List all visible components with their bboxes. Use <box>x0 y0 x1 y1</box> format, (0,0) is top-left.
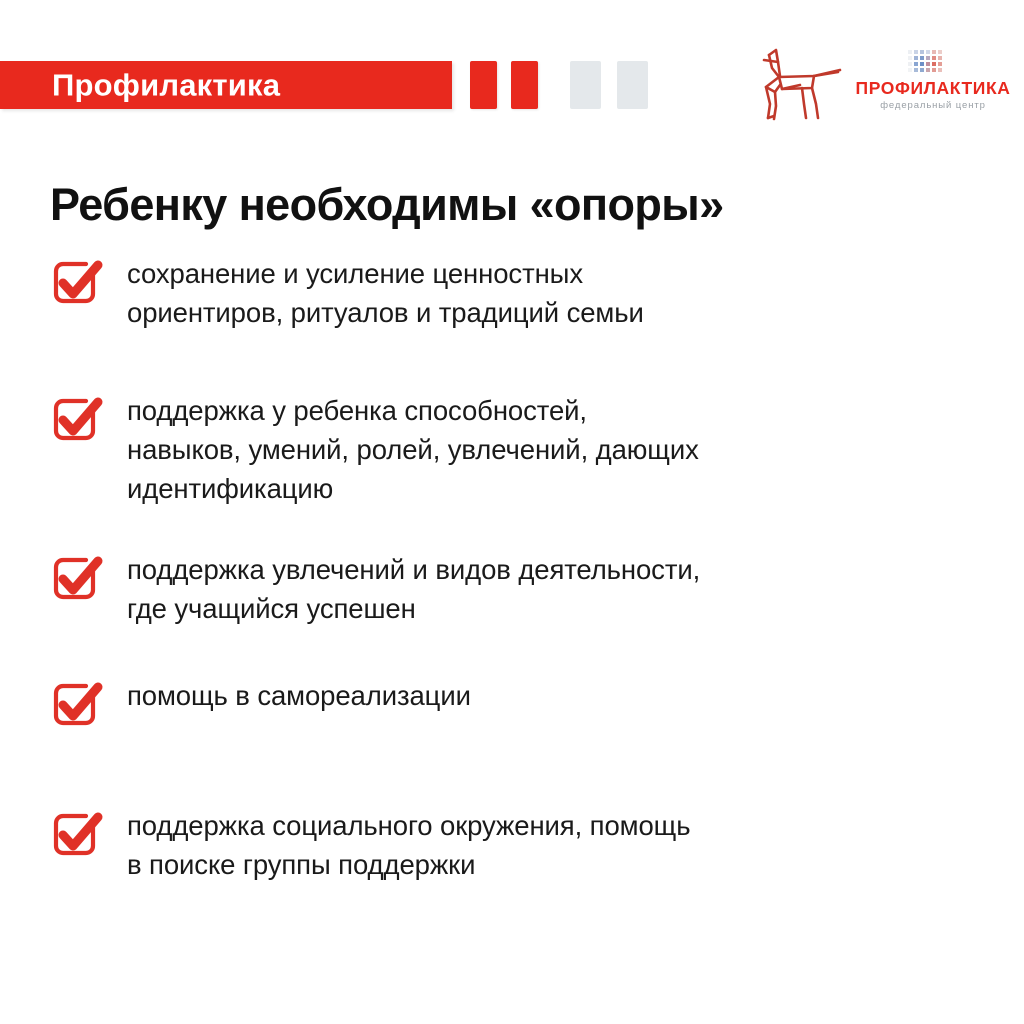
list-item-line: идентификацию <box>127 469 978 508</box>
list-item-line: поддержка социального окружения, помощь <box>127 806 978 845</box>
checkbox-checked-icon <box>48 804 106 862</box>
list-item-line: поддержка у ребенка способностей, <box>127 391 978 430</box>
list-item-line: сохранение и усиление ценностных <box>127 254 978 293</box>
checkbox-checked-icon <box>48 389 106 447</box>
checkbox-checked-icon <box>48 674 106 732</box>
header-segment-gray-1 <box>570 61 601 109</box>
list-item-line: в поиске группы поддержки <box>127 845 978 884</box>
list-item: сохранение и усиление ценностных ориенти… <box>48 248 978 332</box>
checkbox-checked-icon <box>48 548 106 606</box>
header-segment-gray-2 <box>617 61 648 109</box>
list-item-text: поддержка социального окружения, помощь … <box>127 800 978 884</box>
list-item-line: навыков, умений, ролей, увлечений, дающи… <box>127 430 978 469</box>
category-ribbon-label: Профилактика <box>52 70 280 101</box>
header-segment-red-1 <box>470 61 497 109</box>
list-item-line: поддержка увлечений и видов деятельности… <box>127 550 978 589</box>
page-header: Профилактика <box>0 0 1024 132</box>
list-item-line: помощь в самореализации <box>127 676 978 715</box>
list-item: поддержка увлечений и видов деятельности… <box>48 544 978 628</box>
logo-subtitle: федеральный центр <box>852 101 1014 111</box>
dotted-grid-icon <box>906 48 950 78</box>
checkbox-checked-icon <box>48 252 106 310</box>
header-segment-red-2 <box>511 61 538 109</box>
category-ribbon: Профилактика <box>0 61 452 109</box>
logo-text-block: ПРОФИЛАКТИКА федеральный центр <box>852 44 1014 124</box>
list-item-line: где учащийся успешен <box>127 589 978 628</box>
list-item-text: поддержка увлечений и видов деятельности… <box>127 544 978 628</box>
list-item-text: помощь в самореализации <box>127 670 978 715</box>
list-item-line: ориентиров, ритуалов и традиций семьи <box>127 293 978 332</box>
list-item: поддержка у ребенка способностей, навыко… <box>48 385 978 508</box>
list-item: поддержка социального окружения, помощь … <box>48 800 978 884</box>
horse-line-art-icon <box>752 46 844 122</box>
list-item-text: сохранение и усиление ценностных ориенти… <box>127 248 978 332</box>
logo-name: ПРОФИЛАКТИКА <box>852 80 1014 98</box>
page-title: Ребенку необходимы «опоры» <box>50 180 950 230</box>
list-item-text: поддержка у ребенка способностей, навыко… <box>127 385 978 508</box>
organization-logo: ПРОФИЛАКТИКА федеральный центр <box>752 44 1014 124</box>
list-item: помощь в самореализации <box>48 670 978 732</box>
